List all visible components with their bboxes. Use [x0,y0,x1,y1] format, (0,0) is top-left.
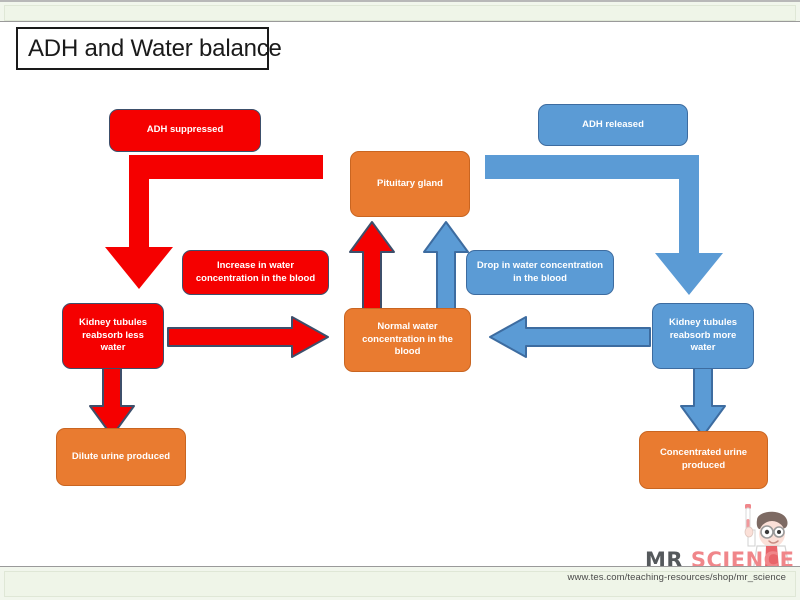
node-dilute-urine[interactable]: Dilute urine produced [56,428,186,486]
node-label: Drop in water concentration in the blood [474,260,606,285]
slide-canvas: ADH and Water balance [0,0,800,600]
logo-word-mr: MR [645,548,683,566]
node-adh-suppressed[interactable]: ADH suppressed [109,109,261,152]
logo-wordmark: MR SCIENCE [645,548,794,566]
node-adh-released[interactable]: ADH released [538,104,688,146]
node-normal-water[interactable]: Normal water concentration in the blood [344,308,471,372]
node-label: Increase in water concentration in the b… [190,260,321,285]
arrow-kidney-less-to-dilute-urine [90,366,134,436]
footer-url[interactable]: www.tes.com/teaching-resources/shop/mr_s… [568,572,786,583]
node-increase-water[interactable]: Increase in water concentration in the b… [182,250,329,295]
node-label: Normal water concentration in the blood [352,321,463,359]
node-label: ADH suppressed [147,124,224,137]
node-concentrated-urine[interactable]: Concentrated urine produced [639,431,768,489]
arrow-kidney-more-to-normal-water [490,317,650,357]
logo-word-science: SCIENCE [691,548,795,566]
node-pituitary-gland[interactable]: Pituitary gland [350,151,470,217]
node-kidney-tubules-less[interactable]: Kidney tubules reabsorb less water [62,303,164,369]
page-title-text: ADH and Water balance [28,35,282,63]
top-chrome-bar [0,0,800,22]
diagram-canvas: ADH and Water balance [0,22,800,566]
node-label: Pituitary gland [377,178,443,191]
arrow-kidney-less-to-normal-water [168,317,328,357]
node-kidney-tubules-more[interactable]: Kidney tubules reabsorb more water [652,303,754,369]
node-drop-water[interactable]: Drop in water concentration in the blood [466,250,614,295]
arrow-increase-water-up-to-pituitary [350,222,394,312]
top-chrome-bar-inner [4,5,796,21]
node-label: Dilute urine produced [72,451,170,464]
arrow-kidney-more-to-concentrated-urine [681,366,725,436]
node-label: Kidney tubules reabsorb less water [70,317,156,355]
mr-science-logo: MR SCIENCE [645,502,795,566]
page-title: ADH and Water balance [16,27,269,70]
node-label: ADH released [582,119,644,132]
arrow-drop-water-up-to-pituitary [424,222,468,312]
node-label: Concentrated urine produced [647,447,760,472]
node-label: Kidney tubules reabsorb more water [660,317,746,355]
